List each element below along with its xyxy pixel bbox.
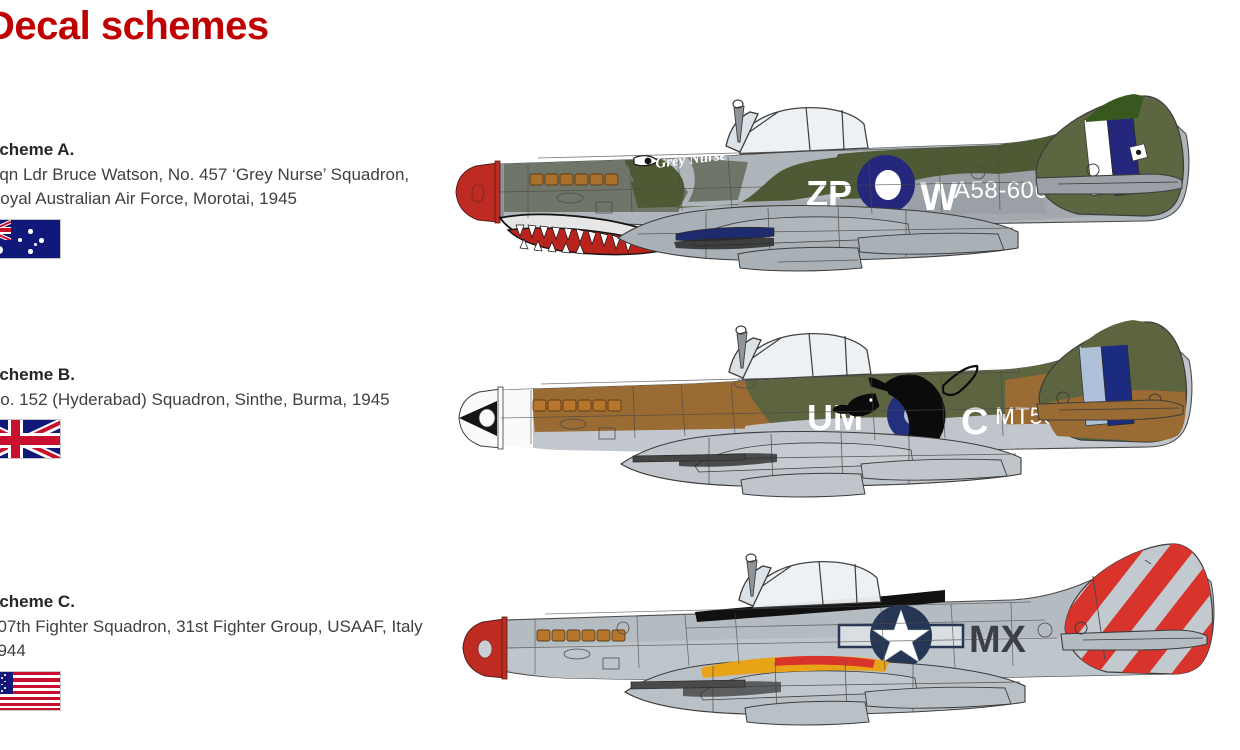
- code-letters: MX: [969, 619, 1027, 661]
- scheme-a-heading: Scheme A.: [0, 138, 428, 163]
- page-title: Decal schemes: [0, 4, 269, 48]
- united-kingdom-flag: [0, 419, 61, 459]
- serial-number: A58-606: [954, 177, 1048, 204]
- scheme-c-text-block: Scheme C. 307th Fighter Squadron, 31st F…: [0, 590, 428, 711]
- scheme-b-heading: Scheme B.: [0, 363, 428, 388]
- scheme-b-text-block: Scheme B. No. 152 (Hyderabad) Squadron, …: [0, 363, 428, 459]
- slide-canvas: Decal schemes Scheme A. Sqn Ldr Bruce Wa…: [0, 0, 1240, 750]
- scheme-a-description: Sqn Ldr Bruce Watson, No. 457 ‘Grey Nurs…: [0, 163, 428, 213]
- australia-flag: [0, 219, 61, 259]
- aircraft-profile-scheme-c: MX: [445, 520, 1240, 750]
- scheme-c-heading: Scheme C.: [0, 590, 428, 615]
- aircraft-profile-scheme-a: Grey Nurse ZP W A58-606: [438, 62, 1238, 292]
- scheme-b-description: No. 152 (Hyderabad) Squadron, Sinthe, Bu…: [0, 388, 428, 413]
- aircraft-profile-scheme-b: UM C MT507: [445, 300, 1240, 520]
- scheme-a-text-block: Scheme A. Sqn Ldr Bruce Watson, No. 457 …: [0, 138, 428, 259]
- code-letter-right: C: [961, 401, 988, 443]
- scheme-c-description: 307th Fighter Squadron, 31st Fighter Gro…: [0, 615, 428, 665]
- united-states-flag: [0, 671, 61, 711]
